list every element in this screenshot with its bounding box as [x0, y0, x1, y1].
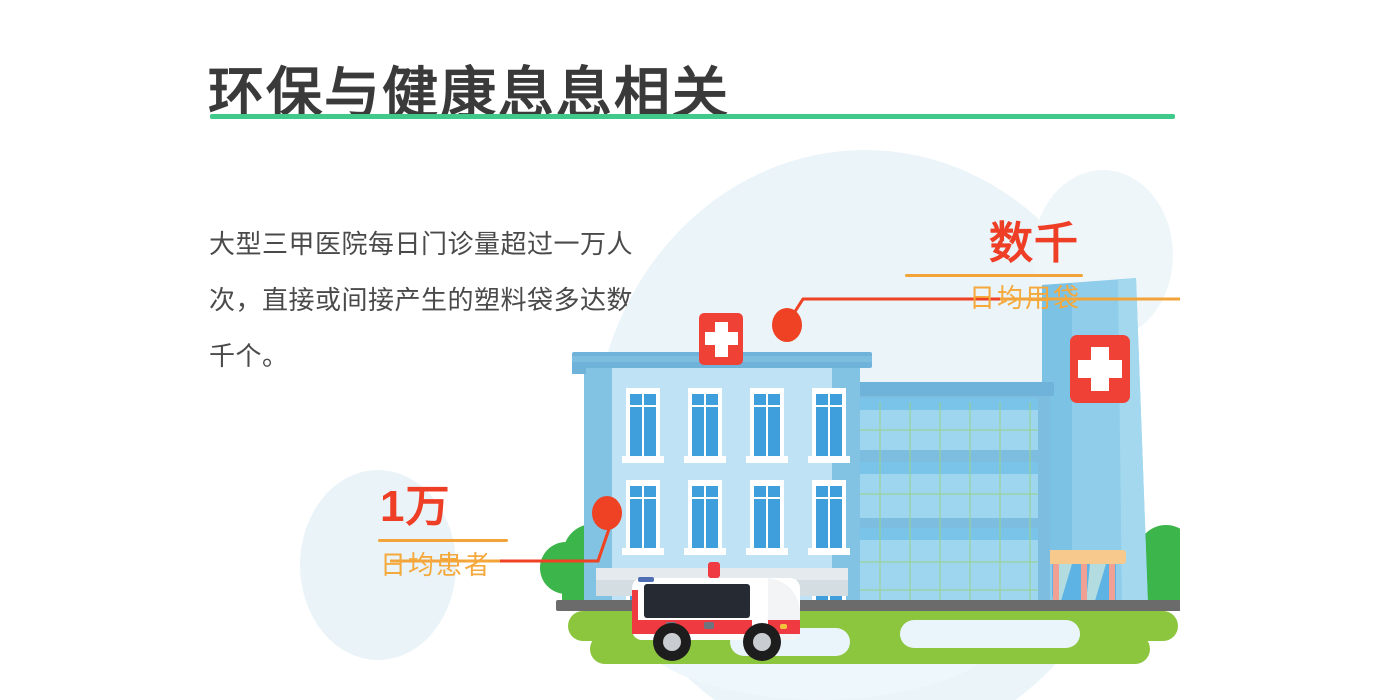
- hospital-tower: [1042, 278, 1148, 605]
- title-underline-rule: [210, 114, 1175, 119]
- tower-entrance: [1044, 550, 1126, 604]
- callout-bags-value: 数千: [905, 222, 1079, 266]
- callout-bags-rule: [905, 274, 1083, 277]
- glass-block-building: [836, 382, 1054, 605]
- callout-patients-value: 1万: [380, 485, 508, 529]
- roof-cross-sign: [699, 313, 743, 365]
- callout-patients-rule: [378, 539, 508, 542]
- tower-cross-sign: [1070, 335, 1130, 403]
- infographic-slide: 环保与健康息息相关 大型三甲医院每日门诊量超过一万人次，直接或间接产生的塑料袋多…: [0, 0, 1400, 700]
- callout-dot-bags: [772, 308, 802, 342]
- callout-bags: 数千 日均用袋: [905, 222, 1083, 311]
- callout-patients-label: 日均患者: [380, 552, 508, 578]
- callout-dot-patients: [592, 496, 622, 530]
- main-hospital-building: [564, 313, 872, 605]
- callout-bags-label: 日均用袋: [905, 285, 1081, 311]
- callout-patients: 1万 日均患者: [378, 485, 508, 578]
